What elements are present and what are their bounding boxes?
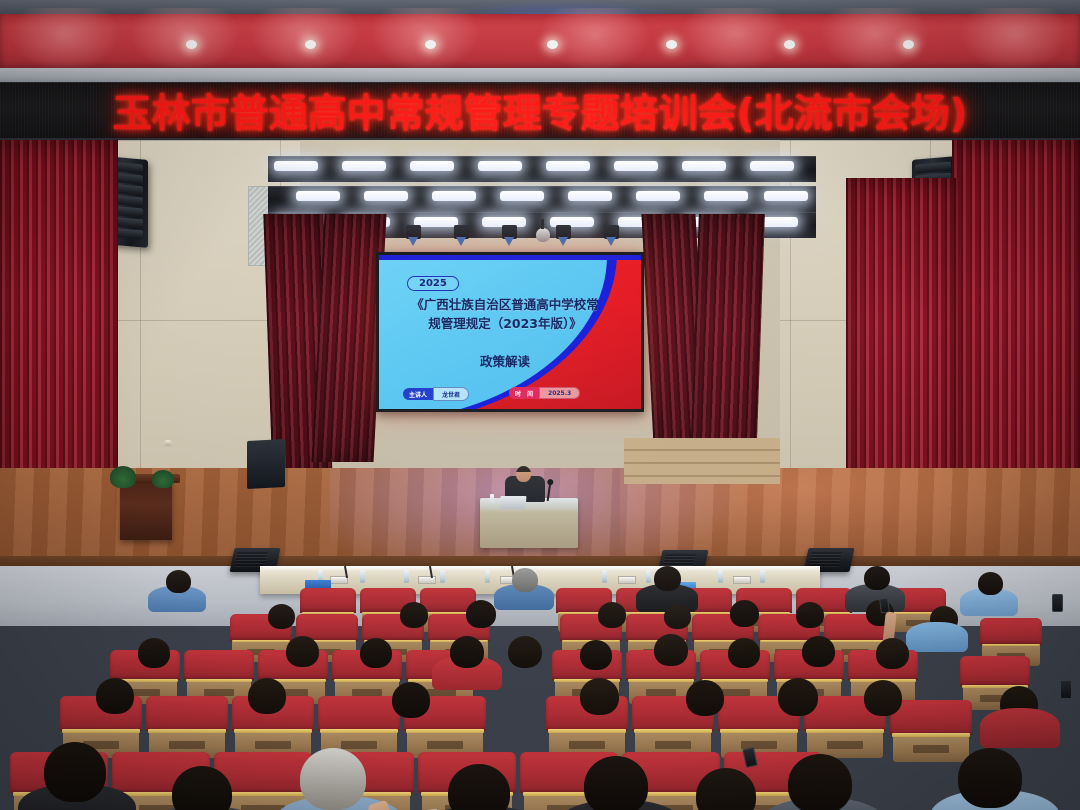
lectern xyxy=(120,480,172,540)
attendee-head xyxy=(580,678,619,715)
water-bottle-icon xyxy=(490,494,494,504)
auditorium-seat xyxy=(146,696,228,758)
banner-title-text: 玉林市普通高中常规管理专题培训会(北流市会场) xyxy=(113,83,968,139)
ceiling-downlight-icon xyxy=(547,40,558,49)
attendee-head xyxy=(300,748,366,810)
attendee-head xyxy=(802,636,835,667)
attendee-head xyxy=(286,636,319,667)
ceiling-downlight-icon xyxy=(903,40,914,49)
slide-time-value: 2025.3 xyxy=(539,387,580,399)
attendee-head xyxy=(654,566,681,591)
slide-presenter-value: 龙世君 xyxy=(433,387,469,401)
attendee-head xyxy=(730,600,759,627)
slide-title: 《广西壮族自治区普通高中学校常 规管理规定（2023年版）》 xyxy=(391,295,619,333)
attendee-head xyxy=(268,604,295,629)
stage-steps xyxy=(624,438,780,484)
ceiling-downlight-icon xyxy=(425,40,436,49)
attendee-head xyxy=(508,636,542,668)
attendee-head xyxy=(598,602,626,628)
attendee-head xyxy=(166,570,191,593)
spotlight-icon xyxy=(556,225,571,239)
smartphone-icon xyxy=(1052,594,1063,612)
ceiling-downlight-icon xyxy=(666,40,677,49)
attendee-head xyxy=(654,634,688,666)
attendee-body xyxy=(980,708,1060,748)
spotlight-icon xyxy=(502,225,517,239)
slide-title-line-1: 《广西壮族自治区普通高中学校常 xyxy=(391,295,619,314)
spotlight-icon xyxy=(454,225,469,239)
wall-sconce-icon xyxy=(164,440,172,446)
led-banner: 玉林市普通高中常规管理专题培训会(北流市会场) xyxy=(0,82,1080,140)
led-presentation-screen: 2025 《广西壮族自治区普通高中学校常 规管理规定（2023年版）》 政策解读… xyxy=(376,252,644,412)
slide-presenter-badge: 主讲人 龙世君 xyxy=(403,387,469,401)
slide-subtitle: 政策解读 xyxy=(391,351,619,370)
ceiling-downlight-icon xyxy=(186,40,197,49)
spotlight-icon xyxy=(604,225,619,239)
attendee-head xyxy=(450,636,484,668)
dome-camera-icon xyxy=(536,228,550,242)
presenter-desk xyxy=(480,498,578,548)
slide-presenter-label: 主讲人 xyxy=(403,388,433,400)
auditorium-seat xyxy=(890,700,972,762)
slide-top-strip xyxy=(379,255,644,260)
attendee-head xyxy=(96,678,134,714)
attendee-head xyxy=(686,680,724,716)
attendee-head xyxy=(400,602,428,628)
attendee-head xyxy=(580,640,612,670)
stage-light-truss-row-2 xyxy=(268,186,816,212)
attendee-head xyxy=(512,568,538,592)
ceiling-red-soffit xyxy=(0,14,1080,70)
attendee-head xyxy=(138,638,170,668)
potted-plant xyxy=(110,466,136,488)
attendee-head xyxy=(864,566,890,590)
ceiling-downlight-icon xyxy=(305,40,316,49)
stage-light-truss-row-1 xyxy=(268,156,816,182)
laptop-icon xyxy=(500,496,527,509)
slide-title-line-2: 规管理规定（2023年版）》 xyxy=(391,314,619,333)
attendee-head xyxy=(664,604,691,629)
attendee-head xyxy=(360,638,392,668)
attendee-head xyxy=(958,748,1022,808)
attendee-head xyxy=(728,638,760,668)
slide-time-label: 时 间 xyxy=(509,387,539,399)
attendee-head xyxy=(248,678,286,714)
equipment-cabinet xyxy=(247,439,285,489)
presenter-head xyxy=(516,466,531,482)
slide-time-badge: 时 间 2025.3 xyxy=(509,387,580,399)
audience-area xyxy=(0,560,1080,810)
spotlight-icon xyxy=(406,225,421,239)
auditorium-photo: 玉林市普通高中常规管理专题培训会(北流市会场) xyxy=(0,0,1080,810)
attendee-head xyxy=(44,742,106,802)
attendee-head xyxy=(392,682,430,718)
ceiling-downlight-icon xyxy=(784,40,795,49)
attendee-head xyxy=(876,638,909,669)
attendee-head xyxy=(864,680,902,716)
attendee-head xyxy=(466,600,496,628)
attendee-head xyxy=(788,754,852,810)
potted-plant xyxy=(152,470,174,488)
attendee-body xyxy=(906,622,968,652)
attendee-head xyxy=(796,602,824,628)
slide-year-badge: 2025 xyxy=(407,276,459,291)
attendee-head xyxy=(978,572,1003,595)
attendee-head xyxy=(584,756,648,810)
attendee-head xyxy=(778,678,818,716)
smartphone-icon xyxy=(1060,680,1072,699)
